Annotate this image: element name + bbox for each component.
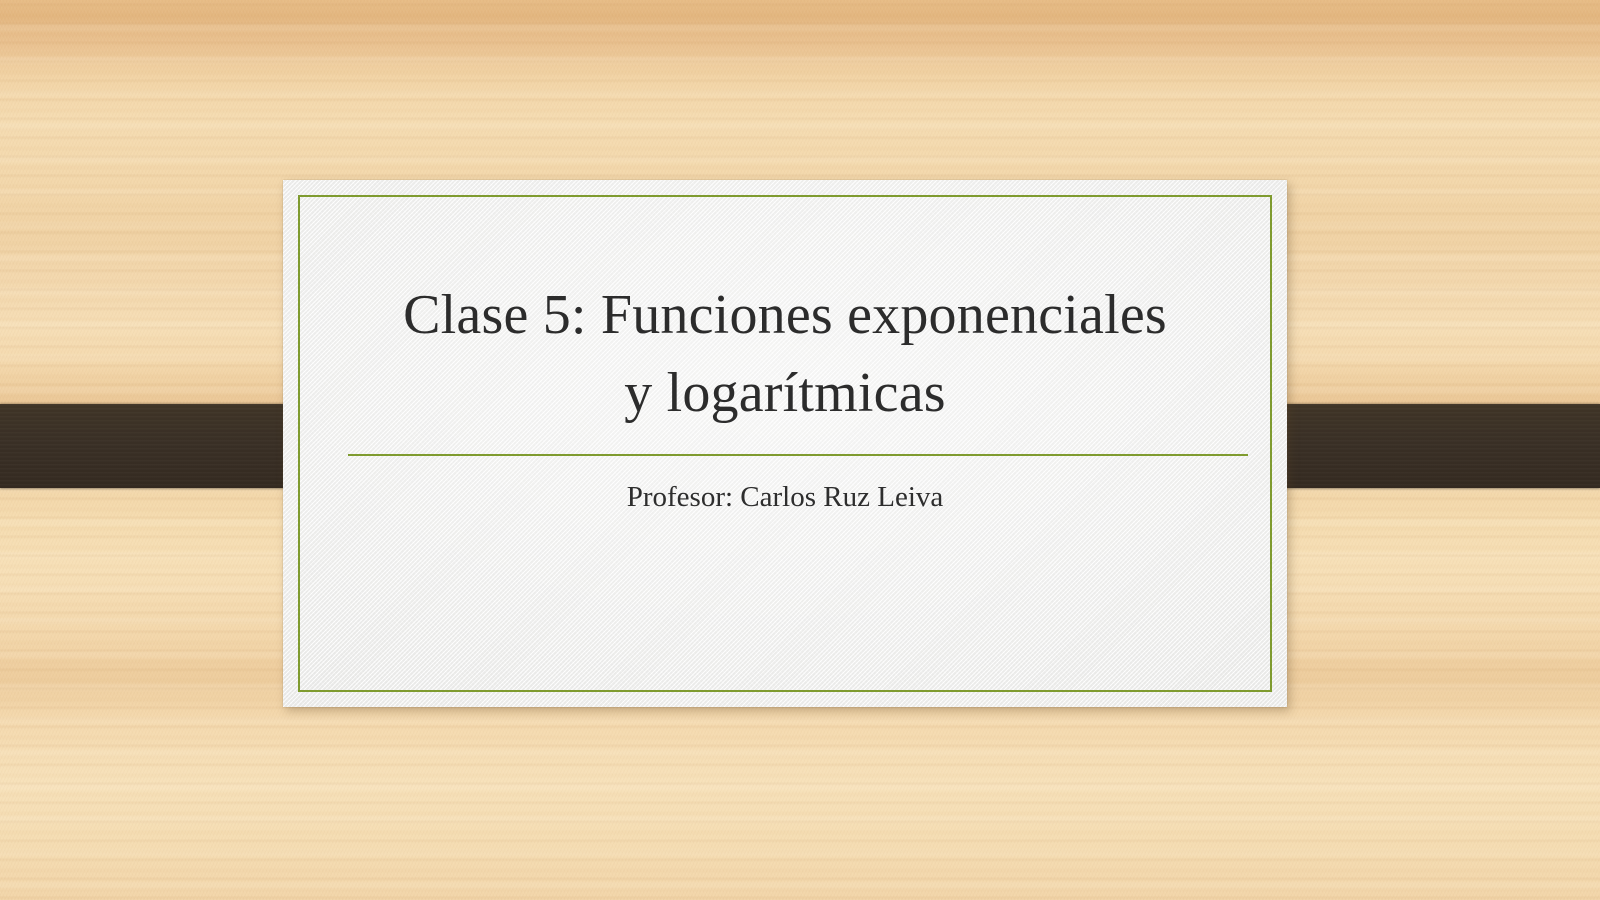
presentation-slide: Clase 5: Funciones exponenciales y logar… — [0, 0, 1600, 900]
slide-title-line-2: y logarítmicas — [335, 354, 1235, 432]
title-card: Clase 5: Funciones exponenciales y logar… — [283, 180, 1287, 707]
slide-title-line-1: Clase 5: Funciones exponenciales — [335, 276, 1235, 354]
decorative-ribbon-right — [1254, 404, 1600, 488]
decorative-ribbon-left — [0, 404, 321, 488]
slide-title[interactable]: Clase 5: Funciones exponenciales y logar… — [283, 276, 1287, 432]
green-border-frame — [298, 195, 1272, 692]
title-divider-line — [348, 454, 1248, 456]
slide-subtitle[interactable]: Profesor: Carlos Ruz Leiva — [283, 476, 1287, 518]
